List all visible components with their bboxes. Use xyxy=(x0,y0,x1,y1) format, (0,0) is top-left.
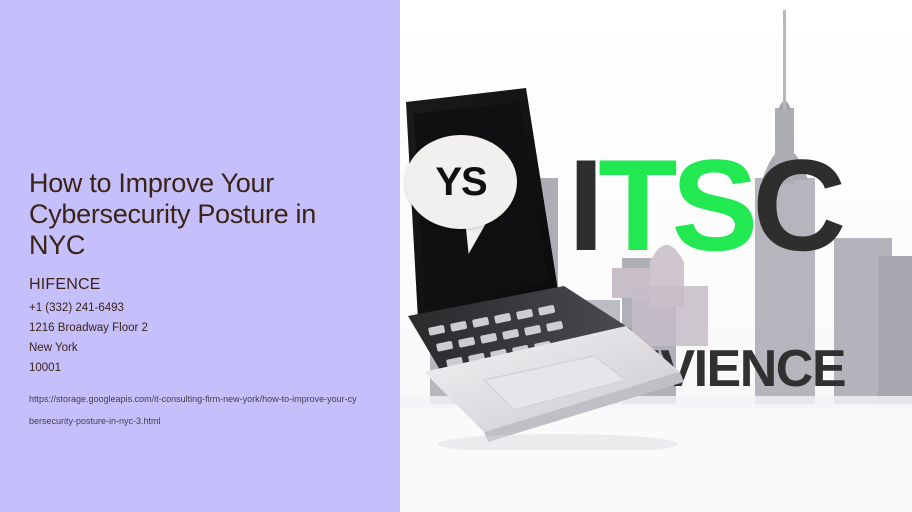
wordmark-letter-c: C xyxy=(752,132,840,278)
source-url[interactable]: https://storage.googleapis.com/it-consul… xyxy=(29,388,359,432)
speech-bubble: YS xyxy=(405,135,517,229)
poster-canvas: How to Improve Your Cybersecurity Postur… xyxy=(0,0,912,512)
contact-address-street: 1216 Broadway Floor 2 xyxy=(29,318,379,338)
hero-image-panel: ITSC SENVIENCE xyxy=(400,0,912,512)
page-title: How to Improve Your Cybersecurity Postur… xyxy=(29,168,379,261)
left-info-panel: How to Improve Your Cybersecurity Postur… xyxy=(0,0,400,512)
brand-name: HIFENCE xyxy=(29,275,379,294)
contact-address-zip: 10001 xyxy=(29,358,379,378)
laptop-illustration xyxy=(400,80,688,450)
contact-phone[interactable]: +1 (332) 241-6493 xyxy=(29,298,379,318)
speech-bubble-label: YS xyxy=(435,160,486,205)
contact-address-city: New York xyxy=(29,338,379,358)
left-content-stack: How to Improve Your Cybersecurity Postur… xyxy=(29,168,379,432)
